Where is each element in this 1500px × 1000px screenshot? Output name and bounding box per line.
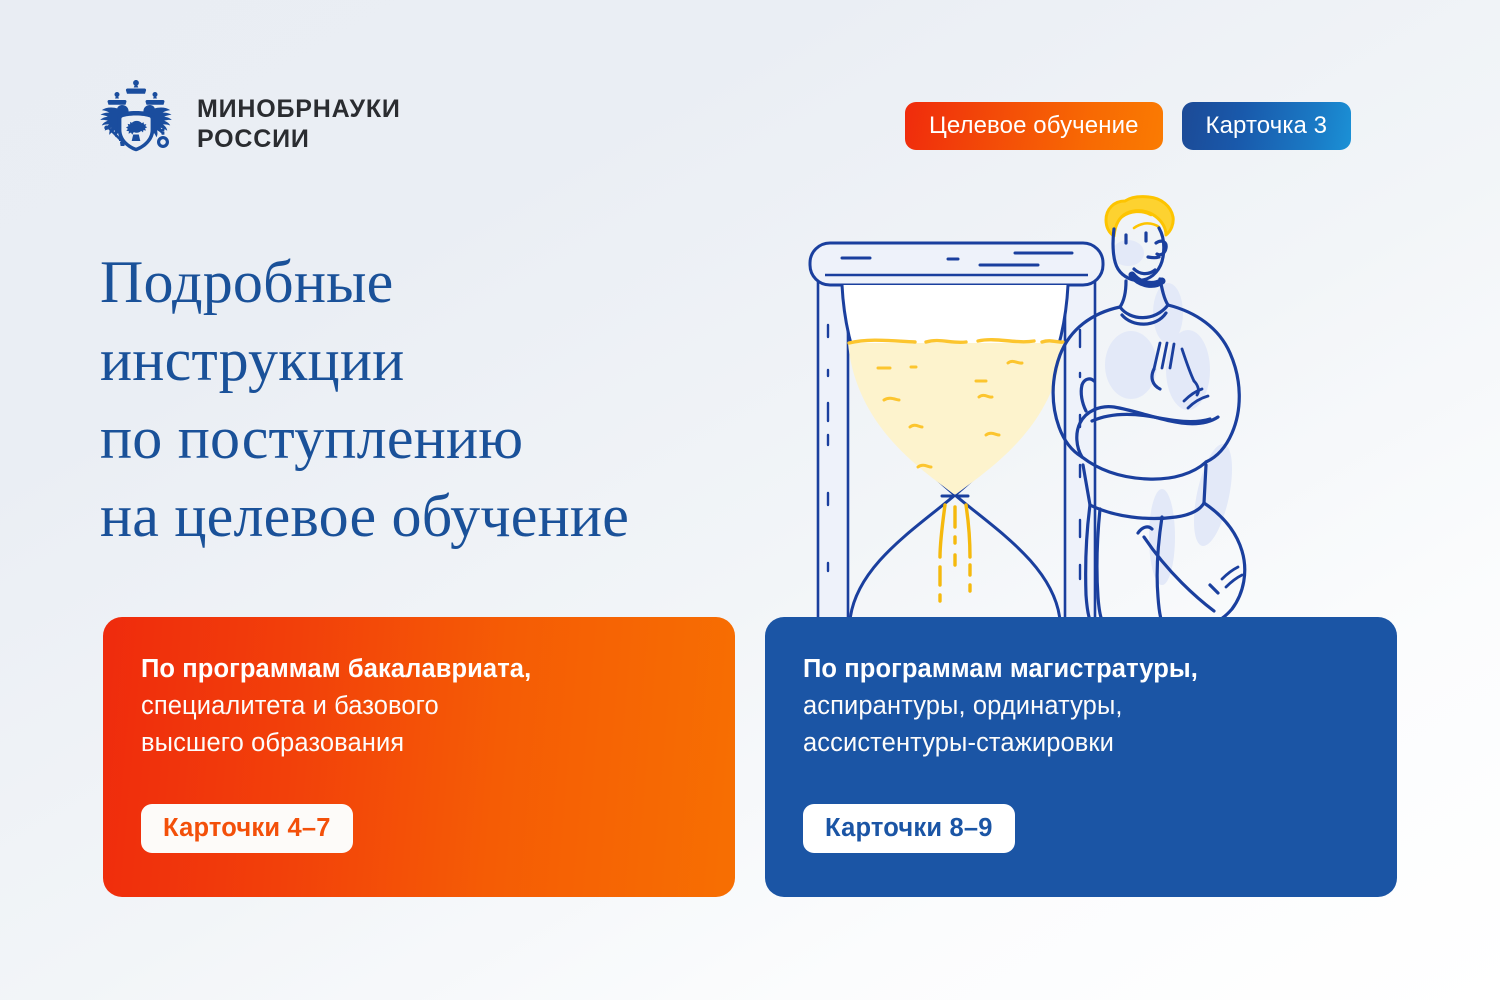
page-title: Подробные инструкции по поступлению на ц… bbox=[100, 243, 830, 555]
falling-sand bbox=[940, 505, 970, 601]
torso-right bbox=[1168, 305, 1239, 462]
hourglass-top-bar bbox=[810, 243, 1103, 285]
leaning-person bbox=[1053, 197, 1245, 622]
card-title: По программам магистратуры, bbox=[803, 651, 1359, 688]
leg-right bbox=[1204, 503, 1245, 622]
card-subtitle: специалитета и базового высшего образова… bbox=[141, 688, 697, 762]
arm-upper bbox=[1077, 407, 1218, 457]
card-master-programs[interactable]: По программам магистратуры, аспирантуры,… bbox=[765, 617, 1397, 897]
card-title: По программам бакалавриата, bbox=[141, 651, 697, 688]
hourglass-with-leaning-person-illustration bbox=[770, 165, 1390, 635]
card-pill-link[interactable]: Карточки 4–7 bbox=[141, 804, 353, 853]
card-pill-link[interactable]: Карточки 8–9 bbox=[803, 804, 1015, 853]
russian-coat-of-arms-icon bbox=[93, 76, 179, 172]
badge-row: Целевое обучение Карточка 3 bbox=[905, 102, 1351, 150]
hourglass-glass bbox=[842, 285, 1068, 620]
card-bachelor-programs[interactable]: По программам бакалавриата, специалитета… bbox=[103, 617, 735, 897]
face bbox=[1113, 228, 1164, 280]
hourglass-sand-top bbox=[848, 343, 1063, 495]
infographic-canvas: МИНОБРНАУКИ РОССИИ Целевое обучение Карт… bbox=[0, 0, 1500, 1000]
torso-left bbox=[1053, 307, 1120, 457]
card-subtitle: аспирантуры, ординатуры, ассистентуры-ст… bbox=[803, 688, 1359, 762]
hourglass-frame bbox=[818, 260, 1095, 620]
ministry-logo: МИНОБРНАУКИ РОССИИ bbox=[93, 76, 401, 172]
ministry-name: МИНОБРНАУКИ РОССИИ bbox=[197, 94, 401, 155]
hair bbox=[1106, 197, 1173, 236]
leg-left-outer bbox=[1086, 505, 1090, 620]
badge-topic[interactable]: Целевое обучение bbox=[905, 102, 1163, 150]
badge-card-number[interactable]: Карточка 3 bbox=[1182, 102, 1352, 150]
